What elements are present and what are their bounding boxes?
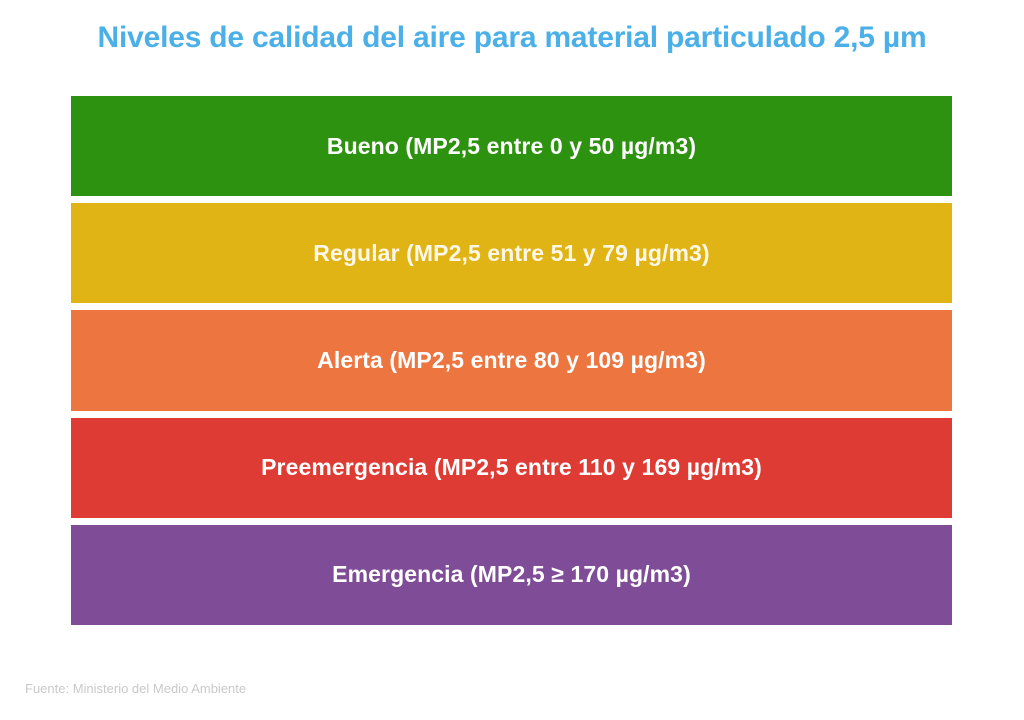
air-quality-bands-list: Bueno (MP2,5 entre 0 y 50 µg/m3) Regular…: [71, 96, 952, 625]
band-label-emergencia: Emergencia (MP2,5 ≥ 170 µg/m3): [332, 561, 691, 588]
band-regular: Regular (MP2,5 entre 51 y 79 µg/m3): [71, 203, 952, 303]
page-title: Niveles de calidad del aire para materia…: [0, 21, 1024, 55]
air-quality-infographic: Niveles de calidad del aire para materia…: [0, 0, 1024, 720]
band-preemergencia: Preemergencia (MP2,5 entre 110 y 169 µg/…: [71, 418, 952, 518]
source-note: Fuente: Ministerio del Medio Ambiente: [25, 681, 246, 696]
band-bueno: Bueno (MP2,5 entre 0 y 50 µg/m3): [71, 96, 952, 196]
band-label-regular: Regular (MP2,5 entre 51 y 79 µg/m3): [313, 240, 709, 267]
band-label-preemergencia: Preemergencia (MP2,5 entre 110 y 169 µg/…: [261, 454, 762, 481]
band-label-alerta: Alerta (MP2,5 entre 80 y 109 µg/m3): [317, 347, 706, 374]
band-alerta: Alerta (MP2,5 entre 80 y 109 µg/m3): [71, 310, 952, 410]
band-emergencia: Emergencia (MP2,5 ≥ 170 µg/m3): [71, 525, 952, 625]
band-label-bueno: Bueno (MP2,5 entre 0 y 50 µg/m3): [327, 133, 696, 160]
